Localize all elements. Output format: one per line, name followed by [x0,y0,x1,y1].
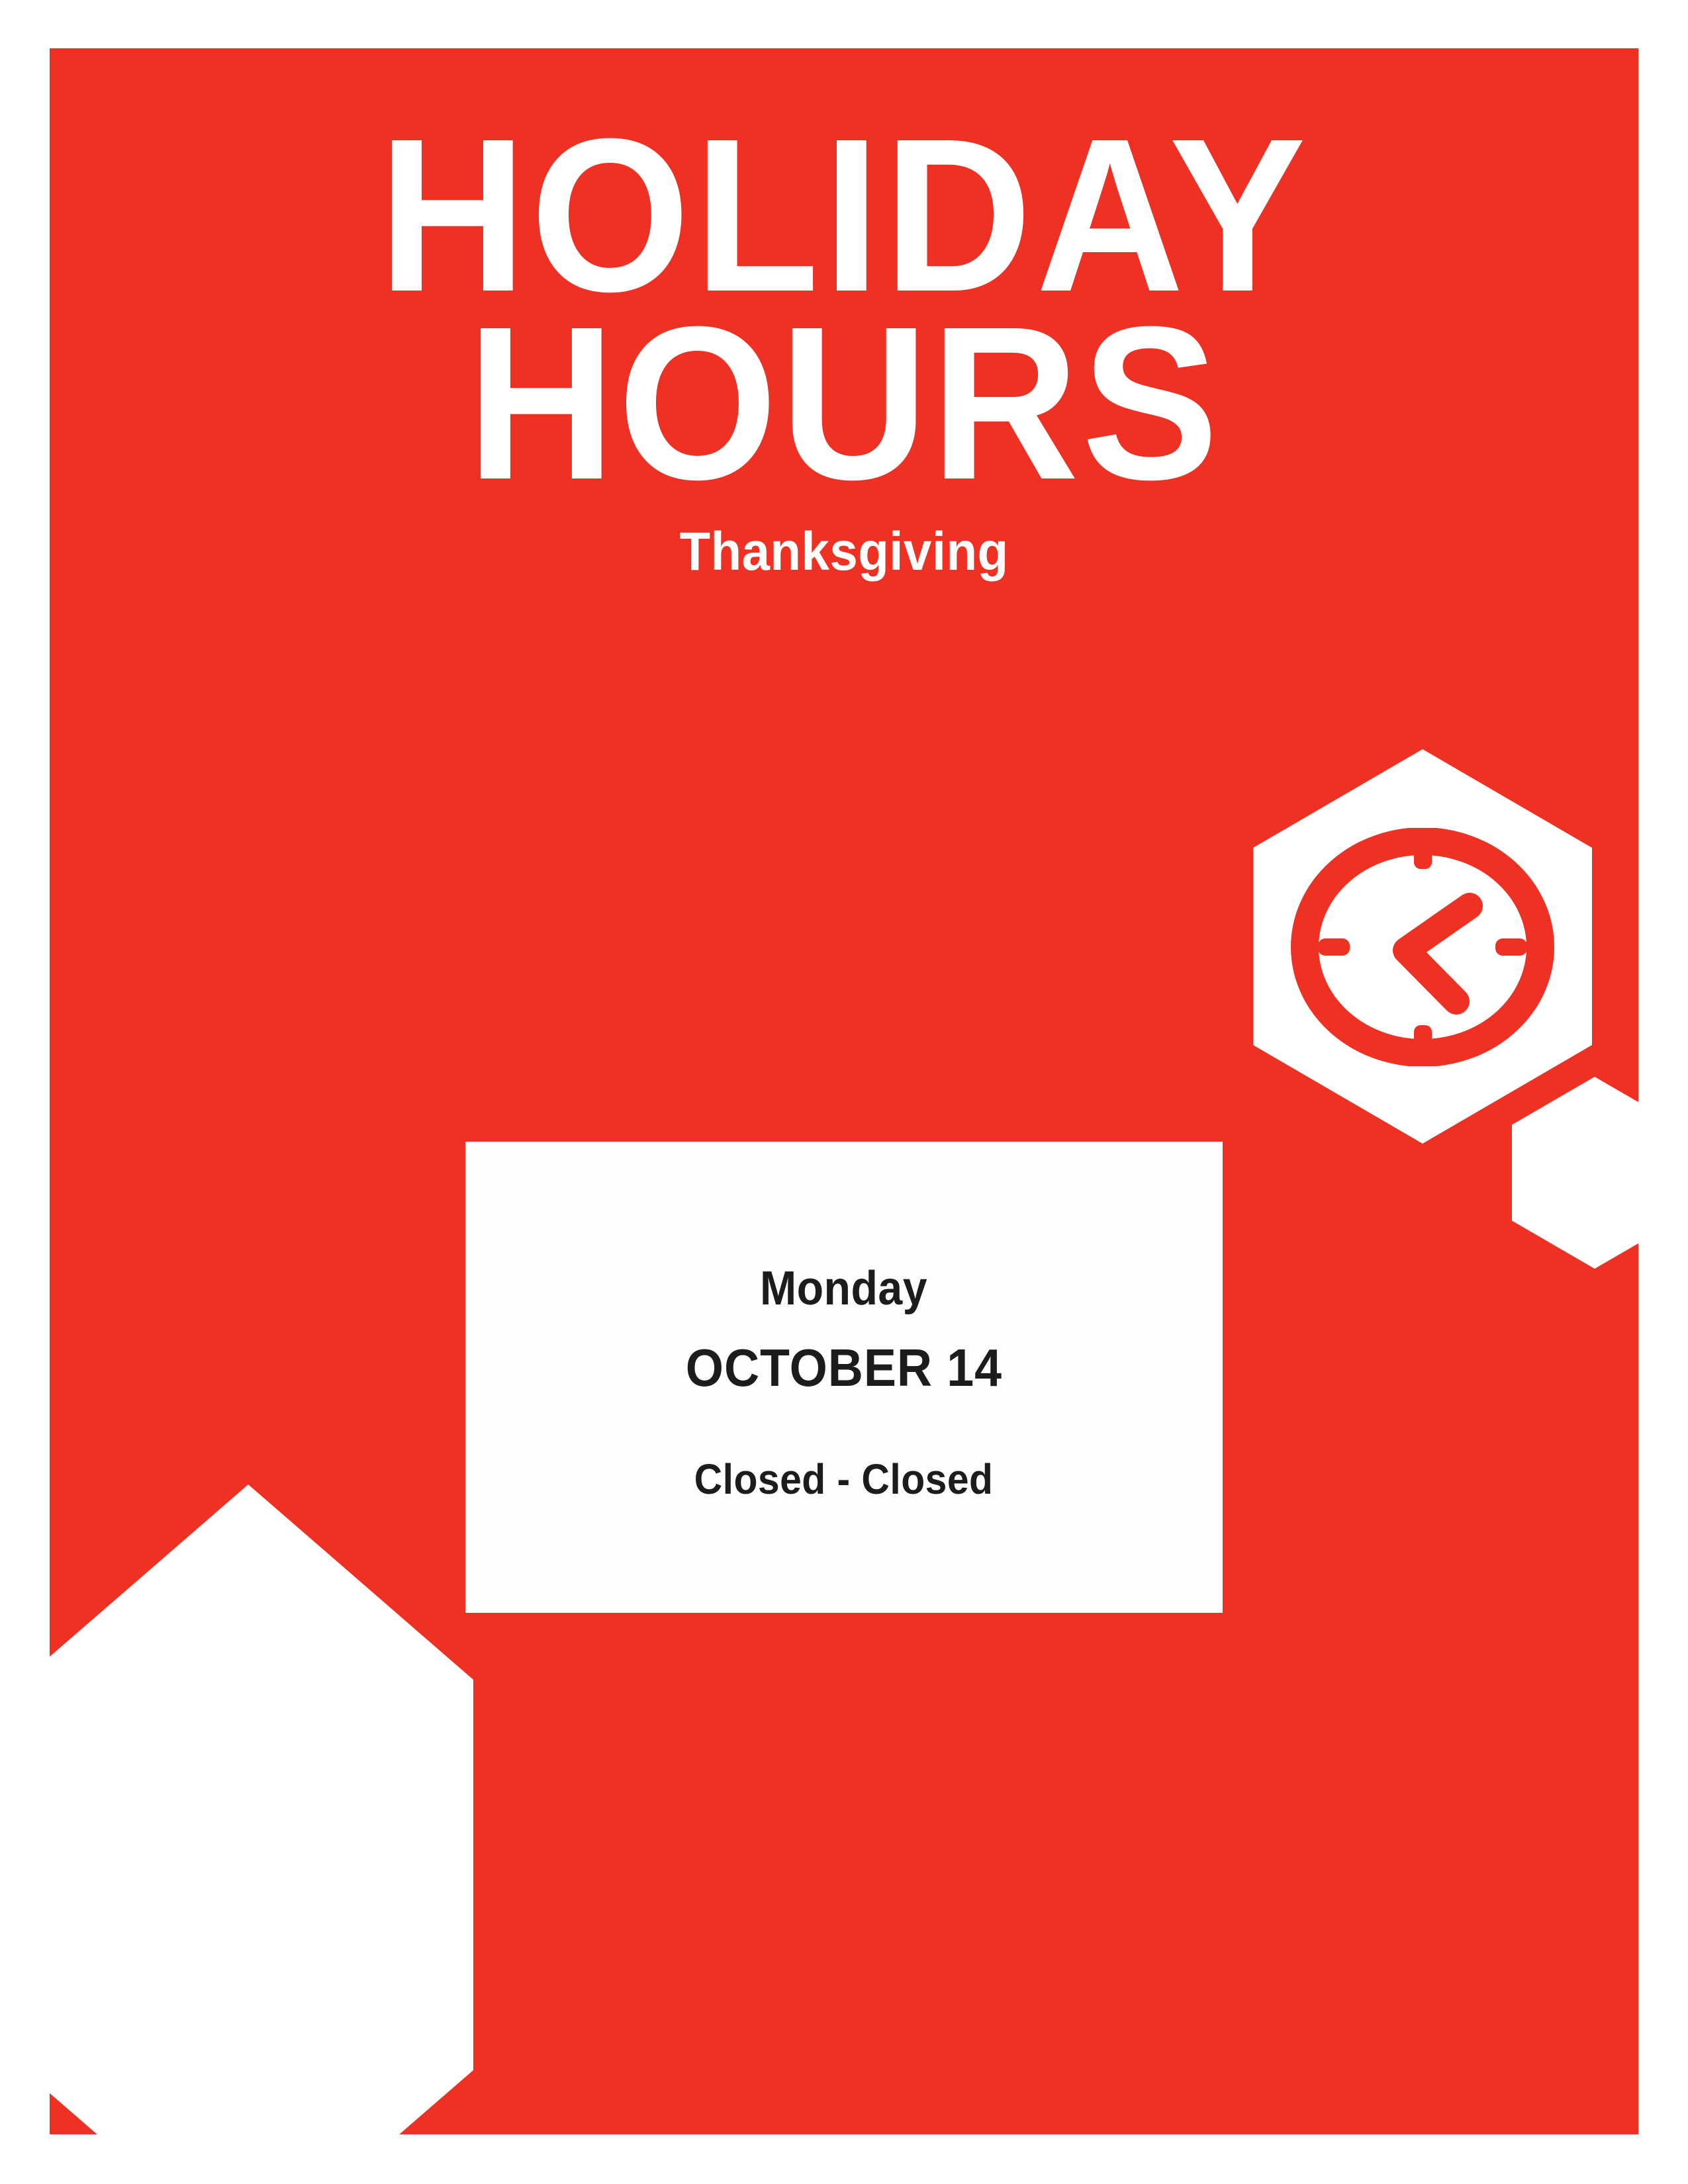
hexagon-decoration-small [1512,1077,1638,1269]
card-day-label: Monday [760,1265,927,1312]
card-hours-label: Closed - Closed [694,1458,994,1500]
hexagon-decoration-bottom [50,1484,473,2134]
clock-icon [1289,828,1556,1066]
holiday-hours-card: Monday OCTOBER 14 Closed - Closed [465,1142,1223,1613]
card-date-label: OCTOBER 14 [686,1342,1002,1394]
red-background-panel: HOLIDAY HOURS Thanksgiving Monday [50,48,1638,2134]
poster-canvas: HOLIDAY HOURS Thanksgiving Monday [0,0,1688,2184]
poster-title-line-2: HOURS [97,309,1591,497]
poster-title-line-1: HOLIDAY [97,121,1591,309]
headline-block: HOLIDAY HOURS Thanksgiving [50,121,1638,579]
poster-subtitle: Thanksgiving [105,525,1583,579]
